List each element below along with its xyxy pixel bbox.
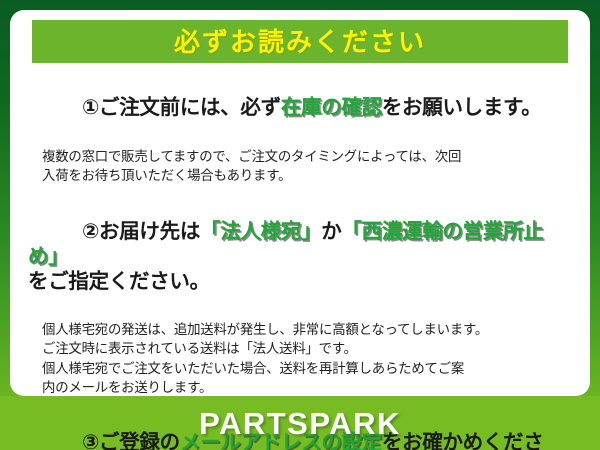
notice-item-1-heading: ①ご注文前には、必ず在庫の確認をお願いします。 bbox=[28, 69, 572, 146]
notice-item-2: ②お届け先は「法人様宛」か「西濃運輸の営業所止め」 をご指定ください。 個人様宅… bbox=[28, 194, 572, 398]
notice-item-1-body: 複数の窓口で販売してますので、ご注文のタイミングによっては、次回 入荷をお待ち頂… bbox=[28, 147, 572, 186]
item-1-heading-part-1: ご注文前には、必ず bbox=[99, 96, 281, 119]
item-1-heading-highlight: 在庫の確認 bbox=[281, 96, 382, 119]
notice-item-1: ①ご注文前には、必ず在庫の確認をお願いします。 複数の窓口で販売してますので、ご… bbox=[28, 69, 572, 186]
item-2-heading-part-1: お届け先は bbox=[99, 220, 200, 243]
brand-logo-text: PARTSPARK bbox=[199, 408, 401, 439]
page-title: 必ずお読みください bbox=[174, 29, 426, 55]
title-banner: 必ずお読みください bbox=[32, 20, 568, 63]
item-1-heading-part-3: をお願いします。 bbox=[382, 96, 542, 119]
item-number-1: ① bbox=[82, 96, 99, 119]
notice-item-2-heading: ②お届け先は「法人様宛」か「西濃運輸の営業所止め」 をご指定ください。 bbox=[28, 194, 572, 319]
notice-item-2-body: 個人様宅宛の発送は、追加送料が発生し、非常に高額となってしまいます。 ご注文時に… bbox=[28, 320, 572, 398]
notice-panel: 必ずお読みください ①ご注文前には、必ず在庫の確認をお願いします。 複数の窓口で… bbox=[10, 10, 590, 396]
item-2-heading-part-5: をご指定ください。 bbox=[28, 270, 210, 293]
notice-item-list: ①ご注文前には、必ず在庫の確認をお願いします。 複数の窓口で販売してますので、ご… bbox=[26, 69, 574, 450]
brand-footer: PARTSPARK bbox=[0, 396, 600, 450]
item-number-2: ② bbox=[82, 220, 99, 243]
item-2-heading-part-3: か bbox=[321, 220, 341, 243]
notice-frame: 必ずお読みください ①ご注文前には、必ず在庫の確認をお願いします。 複数の窓口で… bbox=[0, 0, 600, 450]
item-2-heading-highlight-corporate: 「法人様宛」 bbox=[200, 220, 321, 243]
